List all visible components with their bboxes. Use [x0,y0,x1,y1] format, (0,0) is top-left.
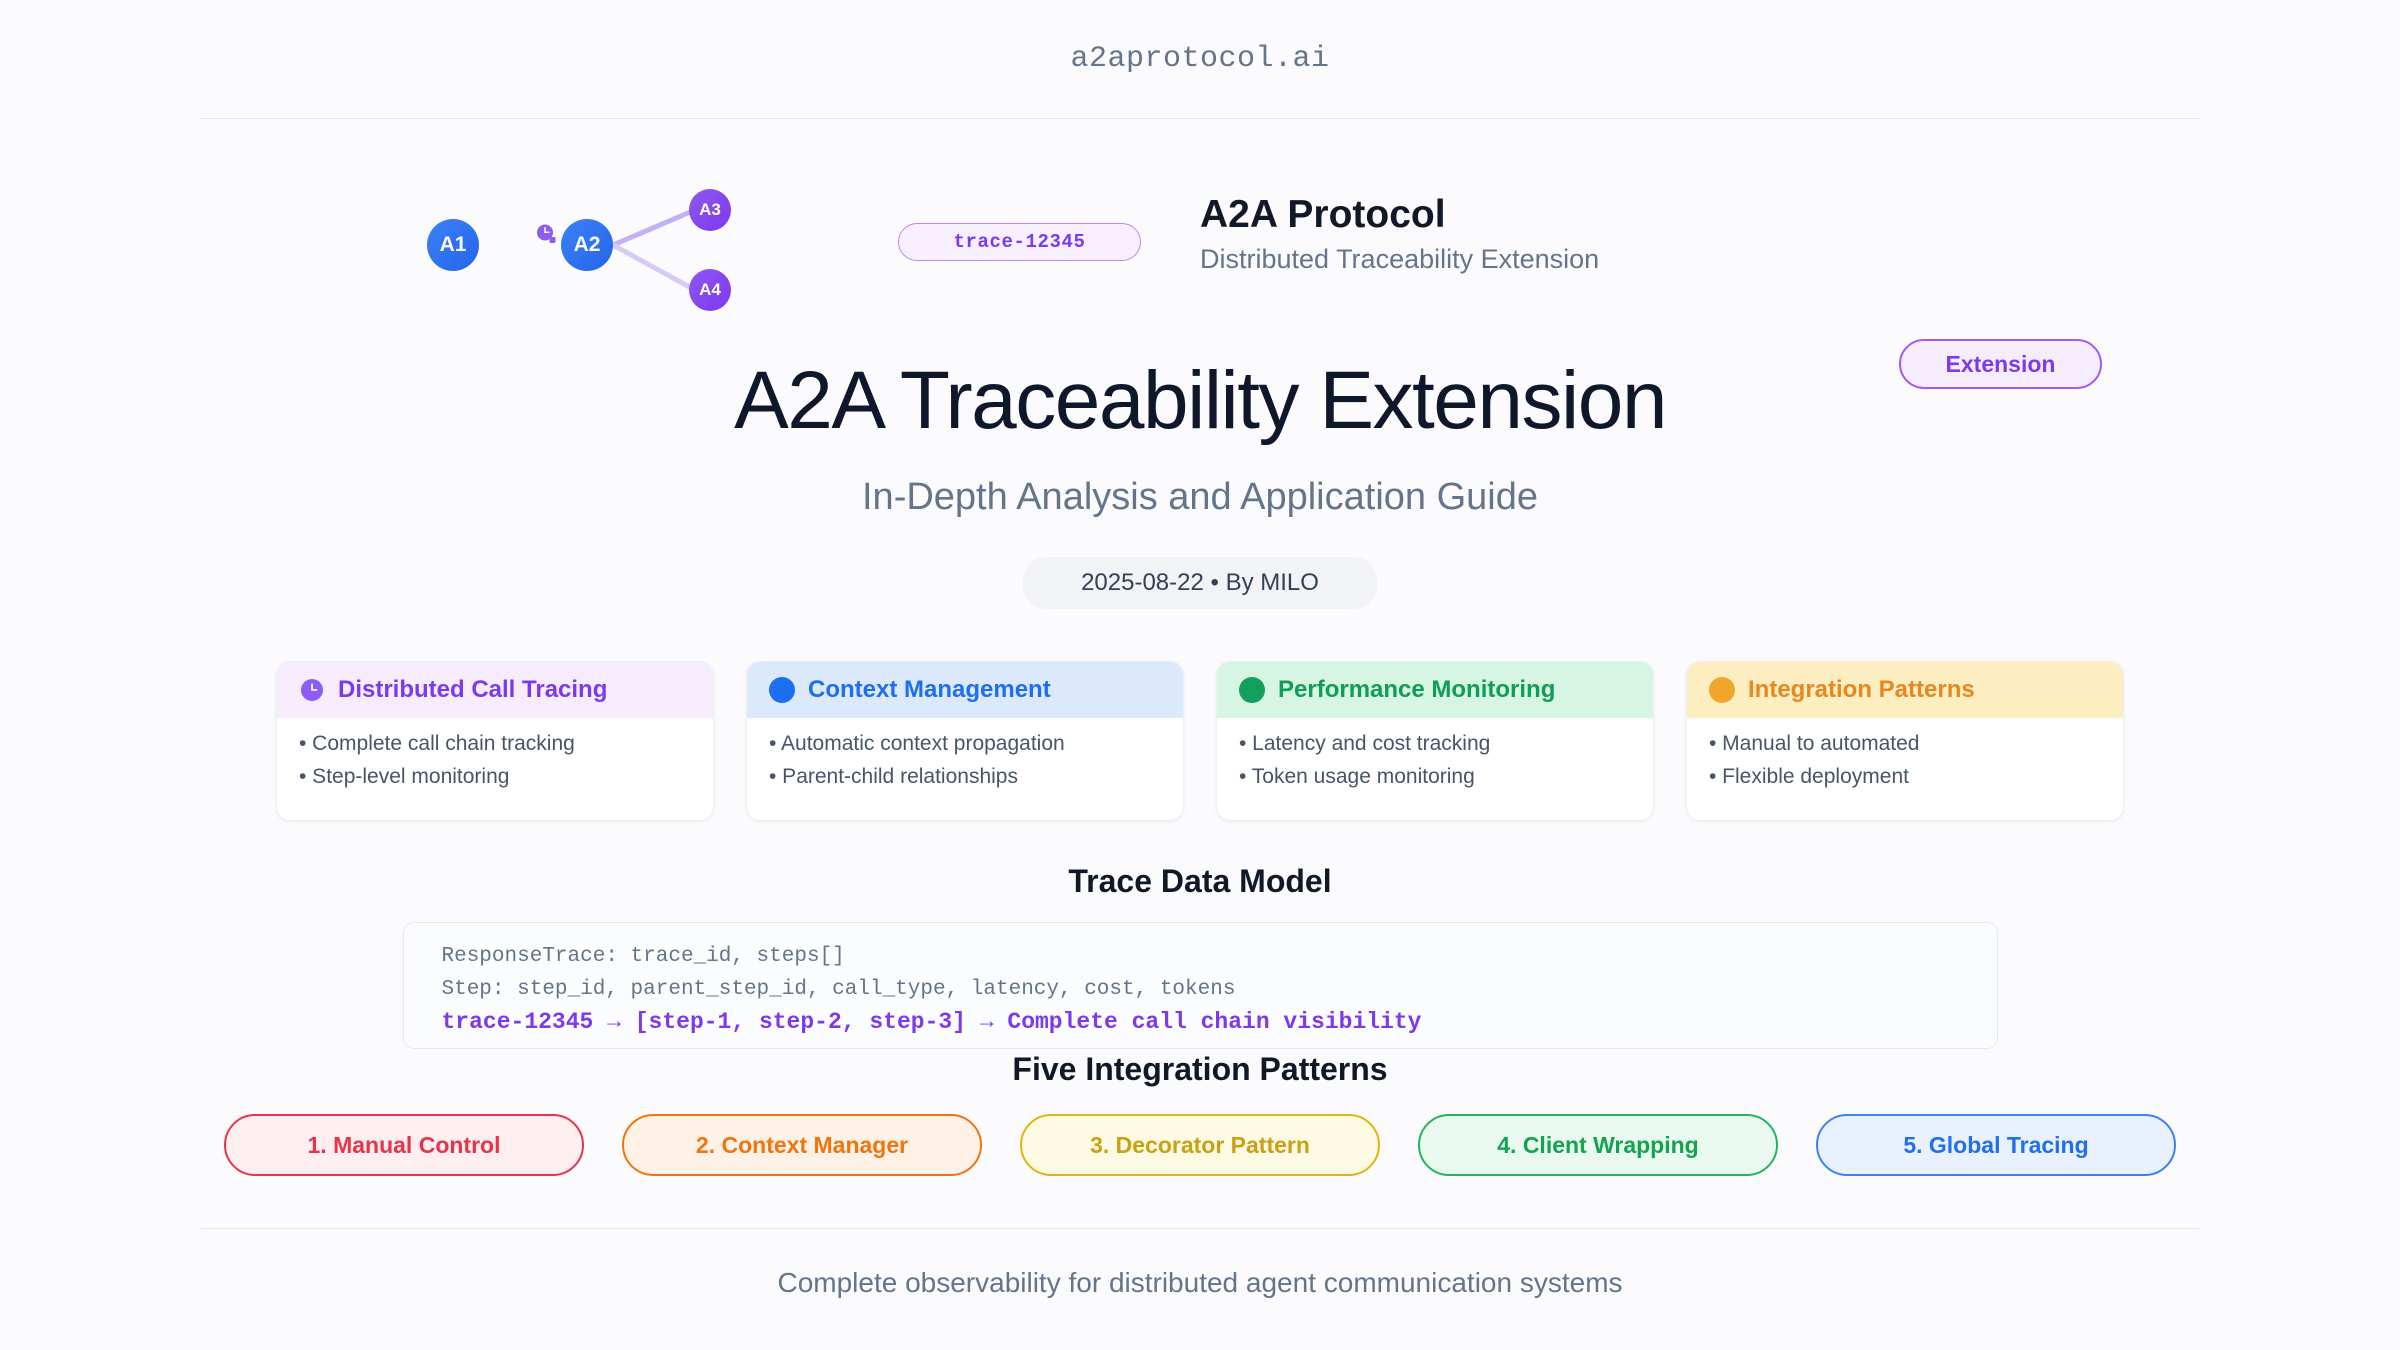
card-title: Integration Patterns [1748,676,1975,704]
pattern-pill-context-manager[interactable]: 2. Context Manager [622,1114,982,1176]
clock-icon [299,677,325,703]
code-block-wrapper: ResponseTrace: trace_id, steps[] Step: s… [0,922,2400,1049]
feature-card-context-management[interactable]: CTX Context Management • Automatic conte… [746,661,1184,821]
card-title: Distributed Call Tracing [338,676,607,704]
card-header: CTX Context Management [747,662,1183,718]
code-line: Step: step_id, parent_step_id, call_type… [442,974,1959,1007]
card-header: Distributed Call Tracing [277,662,713,718]
agent-graph-diagram: A1 A2 A3 A4 [415,141,835,301]
protocol-title: A2A Protocol [1200,193,1599,238]
card-body: • Manual to automated • Flexible deploym… [1687,718,2123,809]
card-bullet: • Flexible deployment [1709,765,2101,789]
feature-card-performance-monitoring[interactable]: MON Performance Monitoring • Latency and… [1216,661,1654,821]
number-badge-icon: 5 [1709,677,1735,703]
site-domain-label: a2aprotocol.ai [1070,42,1329,76]
header-divider [200,118,2200,119]
protocol-title-block: A2A Protocol Distributed Traceability Ex… [1200,193,1599,275]
card-bullet: • Token usage monitoring [1239,765,1631,789]
card-body: • Automatic context propagation • Parent… [747,718,1183,809]
pattern-pill-row: 1. Manual Control 2. Context Manager 3. … [0,1114,2400,1176]
card-bullet: • Parent-child relationships [769,765,1161,789]
graph-edges [415,141,835,316]
protocol-subtitle: Distributed Traceability Extension [1200,244,1599,275]
trace-id-chip: trace-12345 [898,223,1141,261]
card-title: Performance Monitoring [1278,676,1555,704]
feature-card-distributed-call-tracing[interactable]: Distributed Call Tracing • Complete call… [276,661,714,821]
agent-node-a1[interactable]: A1 [427,219,479,271]
feature-card-integration-patterns[interactable]: 5 Integration Patterns • Manual to autom… [1686,661,2124,821]
pattern-pill-manual-control[interactable]: 1. Manual Control [224,1114,584,1176]
pattern-pill-client-wrapping[interactable]: 4. Client Wrapping [1418,1114,1778,1176]
agent-node-a4[interactable]: A4 [689,269,731,311]
trace-model-code-block: ResponseTrace: trace_id, steps[] Step: s… [403,922,1998,1049]
footer-tagline: Complete observability for distributed a… [0,1267,2400,1299]
agent-node-a2[interactable]: A2 [561,219,613,271]
hero-row: A1 A2 A3 A4 trace-12345 A2A Protocol Dis… [0,141,2400,326]
code-line: ResponseTrace: trace_id, steps[] [442,941,1959,974]
card-bullet: • Automatic context propagation [769,732,1161,756]
clock-icon [535,223,559,247]
date-author-badge: 2025-08-22 • By MILO [1023,557,1377,609]
card-header: 5 Integration Patterns [1687,662,2123,718]
site-header: a2aprotocol.ai [0,0,2400,118]
page-subtitle: In-Depth Analysis and Application Guide [0,476,2400,519]
card-bullet: • Complete call chain tracking [299,732,691,756]
agent-node-a3[interactable]: A3 [689,189,731,231]
extension-badge: Extension [1899,339,2102,389]
trace-model-heading: Trace Data Model [0,863,2400,900]
code-line-accent: trace-12345 → [step-1, step-2, step-3] →… [442,1006,1959,1038]
card-bullet: • Step-level monitoring [299,765,691,789]
card-title: Context Management [808,676,1051,704]
card-bullet: • Manual to automated [1709,732,2101,756]
card-body: • Complete call chain tracking • Step-le… [277,718,713,809]
card-bullet: • Latency and cost tracking [1239,732,1631,756]
card-header: MON Performance Monitoring [1217,662,1653,718]
meta-pill-wrapper: 2025-08-22 • By MILO [0,557,2400,609]
feature-card-row: Distributed Call Tracing • Complete call… [0,661,2400,821]
mon-badge-icon: MON [1239,677,1265,703]
pattern-pill-decorator-pattern[interactable]: 3. Decorator Pattern [1020,1114,1380,1176]
footer-divider [200,1228,2200,1229]
card-body: • Latency and cost tracking • Token usag… [1217,718,1653,809]
patterns-heading: Five Integration Patterns [0,1051,2400,1088]
pattern-pill-global-tracing[interactable]: 5. Global Tracing [1816,1114,2176,1176]
ctx-badge-icon: CTX [769,677,795,703]
